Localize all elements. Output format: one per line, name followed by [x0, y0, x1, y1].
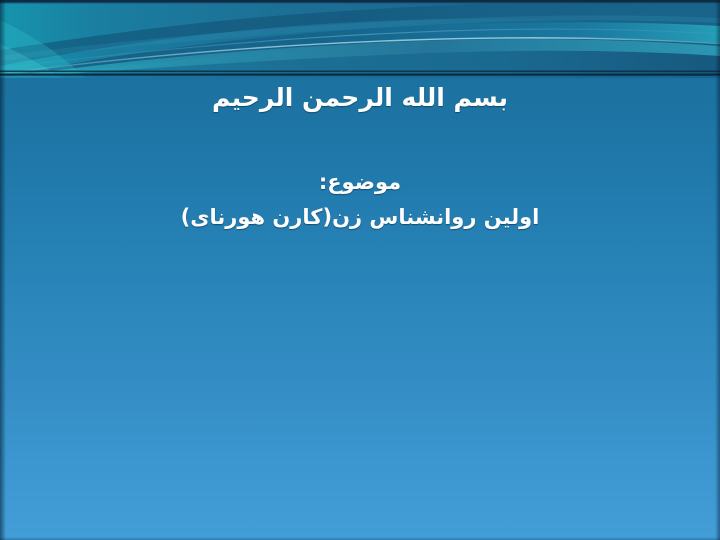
bismillah-heading: بسم الله الرحمن الرحیم: [0, 83, 720, 112]
left-edge-shade: [0, 0, 6, 540]
subject-label: موضوع:: [0, 170, 720, 194]
presentation-slide: بسم الله الرحمن الرحیم موضوع: اولین روان…: [0, 0, 720, 540]
decorative-wave-banner: [0, 0, 720, 78]
subject-value: اولین روانشناس زن(کارن هورنای): [0, 205, 720, 229]
wave-graphic: [0, 0, 720, 78]
right-edge-shade: [715, 0, 720, 540]
